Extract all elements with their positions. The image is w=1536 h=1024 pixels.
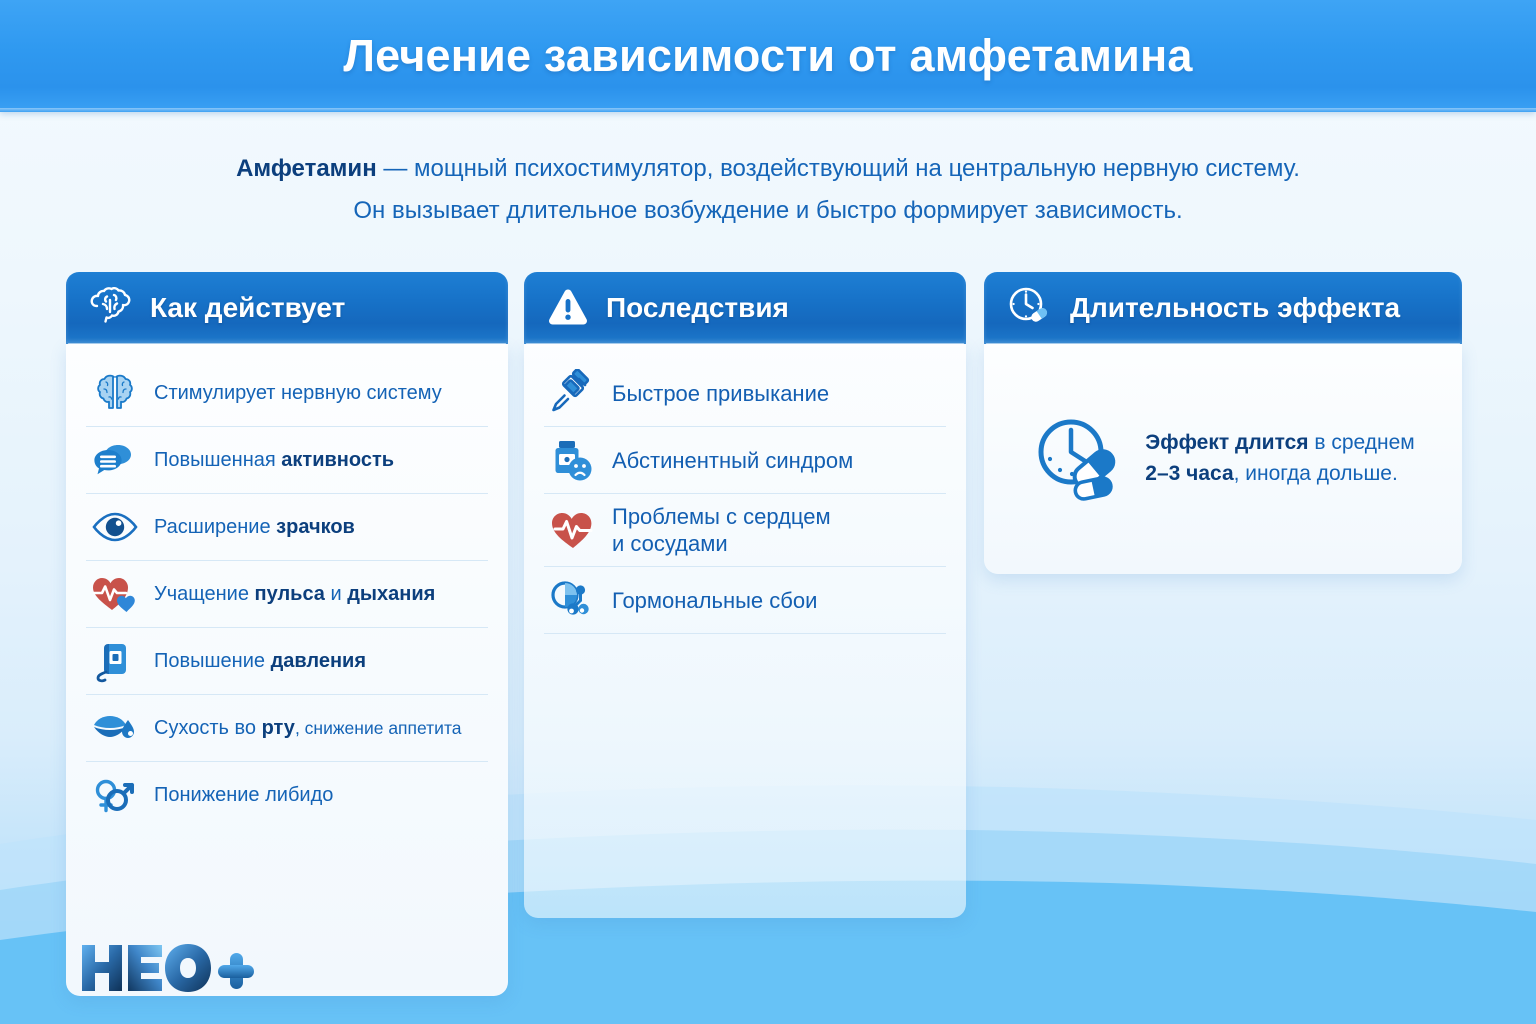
blood-pressure-monitor-icon [90,637,140,685]
list-item: Сухость во рту, снижение аппетита [86,695,488,762]
warning-triangle-icon [546,286,590,331]
eye-icon [90,503,140,551]
intro-line-1-rest: — мощный психостимулятор, воздействующий… [377,155,1300,182]
intro-keyword: Амфетамин [236,155,377,182]
cards-row: Как действует Стимулирует не [0,272,1536,972]
gender-symbols-icon [90,771,140,819]
list-item: Повышение давления [86,628,488,695]
page-banner: Лечение зависимости от амфетамина [0,0,1536,112]
neo-plus-logo: НЕО+ [78,940,254,996]
clock-capsules-icon [1031,412,1127,504]
duration-block: Эффект длится в среднем 2–3 часа, иногда… [1031,412,1414,504]
heartbeat-icon [90,570,140,618]
list-item: Быстрое привыкание [544,360,946,427]
list-item-label: Проблемы с сердцем и сосудами [612,503,831,557]
page-title: Лечение зависимости от амфетамина [0,30,1536,82]
card-effect-duration: Длительность эффекта [984,272,1462,574]
card-consequences-body: Быстрое привыкание [524,344,966,918]
list-item-label: Быстрое привыкание [612,380,829,407]
card-how-it-works-header: Как действует [66,272,508,344]
list-item: Проблемы с сердцем и сосудами [544,494,946,567]
list-item: Повышенная активность [86,427,488,494]
card-consequences-header: Последствия [524,272,966,344]
clock-pills-icon [1006,285,1054,332]
list-item-label: Повышенная активность [154,448,394,473]
brain-icon [90,369,140,417]
list-item-label: Стимулирует нервную систему [154,381,442,406]
list-item: Стимулирует нервную систему [86,360,488,427]
card-effect-duration-header: Длительность эффекта [984,272,1462,344]
intro-text-block: Амфетамин — мощный психостимулятор, возд… [0,152,1536,236]
infographic-canvas: Лечение зависимости от амфетамина Амфета… [0,0,1536,1024]
list-item: Гормональные сбои [544,567,946,634]
syringe-icon [548,369,598,417]
dry-mouth-icon [90,704,140,752]
intro-line-1: Амфетамин — мощный психостимулятор, возд… [0,152,1536,186]
card-consequences: Последствия [524,272,966,918]
list-item-label: Расширение зрачков [154,515,355,540]
list-item: Учащение пульса и дыхания [86,561,488,628]
heart-pulse-icon [548,506,598,554]
card-how-it-works: Как действует Стимулирует не [66,272,508,996]
list-item: Абстинентный синдром [544,427,946,494]
card-consequences-title: Последствия [606,292,789,324]
card-effect-duration-title: Длительность эффекта [1070,292,1400,324]
list-item: Понижение либидо [86,762,488,828]
list-item-label: Повышение давления [154,649,366,674]
brain-icon [88,287,134,330]
list-item-label: Абстинентный синдром [612,447,853,474]
intro-line-2: Он вызывает длительное возбуждение и быс… [0,194,1536,228]
chat-bubbles-icon [90,436,140,484]
list-item-label: Гормональные сбои [612,587,817,614]
card-how-it-works-title: Как действует [150,292,345,324]
card-how-it-works-body: Стимулирует нервную систему [66,344,508,996]
hormones-molecule-icon [548,576,598,624]
card-effect-duration-body: Эффект длится в среднем 2–3 часа, иногда… [984,344,1462,574]
list-item-label: Понижение либидо [154,783,333,808]
list-item-label: Сухость во рту, снижение аппетита [154,716,462,741]
list-item-label: Учащение пульса и дыхания [154,582,435,607]
pill-bottle-sad-face-icon [548,436,598,484]
duration-text: Эффект длится в среднем 2–3 часа, иногда… [1145,427,1414,489]
list-item: Расширение зрачков [86,494,488,561]
